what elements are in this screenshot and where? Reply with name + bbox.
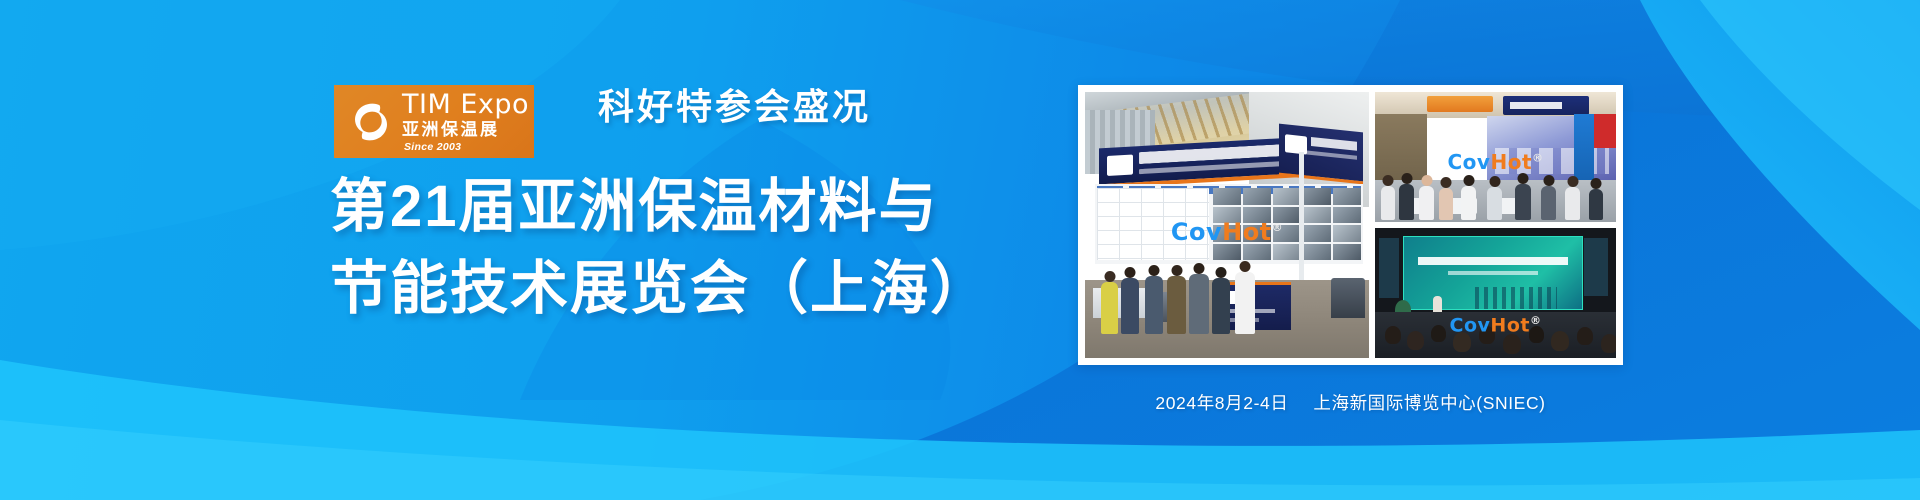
hall-scene bbox=[1375, 92, 1616, 222]
tim-swoosh-icon bbox=[344, 94, 398, 150]
exhibition-banner: TIM Expo 亚洲保温展 Since 2003 科好特参会盛况 第21届亚洲… bbox=[0, 0, 1920, 500]
booth-photo: CovHot® bbox=[1085, 92, 1369, 358]
event-date: 2024年8月2-4日 bbox=[1155, 393, 1288, 413]
product-display-board bbox=[1095, 184, 1363, 264]
left-content-column: TIM Expo 亚洲保温展 Since 2003 科好特参会盛况 第21届亚洲… bbox=[0, 0, 1060, 500]
forum-scene bbox=[1375, 228, 1616, 358]
forum-photo: CovHot® bbox=[1375, 228, 1616, 358]
event-info-line: 2024年8月2-4日 上海新国际博览中心(SNIEC) bbox=[1078, 390, 1623, 415]
forum-screen bbox=[1403, 236, 1583, 310]
logo-title-cn: 亚洲保温展 bbox=[402, 121, 529, 138]
event-venue: 上海新国际博览中心(SNIEC) bbox=[1313, 393, 1545, 413]
tim-expo-logo: TIM Expo 亚洲保温展 Since 2003 bbox=[334, 85, 534, 158]
headline-line-2: 节能技术展览会（上海） bbox=[330, 248, 990, 330]
dely-sign bbox=[1503, 96, 1589, 115]
booth-scene bbox=[1085, 92, 1369, 358]
headline-line-1: 第21届亚洲保温材料与 bbox=[330, 166, 990, 248]
page-title: 第21届亚洲保温材料与 节能技术展览会（上海） bbox=[330, 166, 990, 331]
kicker-text: 科好特参会盛况 bbox=[598, 78, 871, 130]
logo-since: Since 2003 bbox=[402, 142, 529, 153]
booth-side-banner bbox=[1279, 124, 1363, 185]
exhibition-hall-photo: CovHot® bbox=[1375, 92, 1616, 222]
photo-column-right: CovHot® bbox=[1375, 92, 1616, 358]
logo-title-en: TIM Expo bbox=[402, 91, 529, 118]
photo-collage: CovHot® bbox=[1078, 85, 1623, 365]
